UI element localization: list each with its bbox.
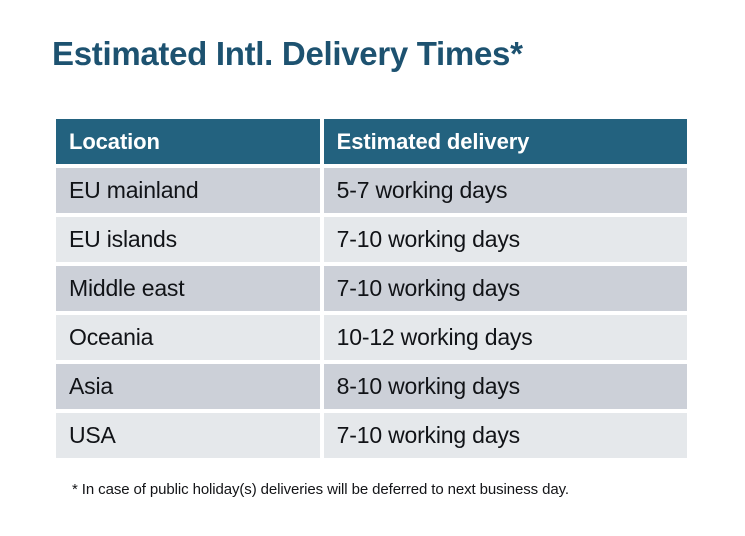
table-row: EU mainland 5-7 working days bbox=[56, 168, 687, 213]
cell-delivery: 5-7 working days bbox=[324, 168, 687, 213]
delivery-times-page: Estimated Intl. Delivery Times* Location… bbox=[0, 0, 745, 536]
table-header: Location Estimated delivery bbox=[56, 119, 687, 164]
table-header-row: Location Estimated delivery bbox=[56, 119, 687, 164]
cell-delivery: 7-10 working days bbox=[324, 266, 687, 311]
delivery-times-table: Location Estimated delivery EU mainland … bbox=[52, 115, 691, 462]
table-row: Asia 8-10 working days bbox=[56, 364, 687, 409]
cell-location: Oceania bbox=[56, 315, 320, 360]
cell-location: USA bbox=[56, 413, 320, 458]
cell-location: Middle east bbox=[56, 266, 320, 311]
cell-delivery: 7-10 working days bbox=[324, 413, 687, 458]
column-header-location: Location bbox=[56, 119, 320, 164]
cell-location: EU mainland bbox=[56, 168, 320, 213]
table-row: USA 7-10 working days bbox=[56, 413, 687, 458]
table-row: EU islands 7-10 working days bbox=[56, 217, 687, 262]
column-header-delivery: Estimated delivery bbox=[324, 119, 687, 164]
cell-delivery: 8-10 working days bbox=[324, 364, 687, 409]
table-body: EU mainland 5-7 working days EU islands … bbox=[56, 168, 687, 458]
table-row: Oceania 10-12 working days bbox=[56, 315, 687, 360]
cell-location: Asia bbox=[56, 364, 320, 409]
cell-location: EU islands bbox=[56, 217, 320, 262]
cell-delivery: 10-12 working days bbox=[324, 315, 687, 360]
cell-delivery: 7-10 working days bbox=[324, 217, 687, 262]
page-title: Estimated Intl. Delivery Times* bbox=[52, 36, 523, 72]
footnote: * In case of public holiday(s) deliverie… bbox=[72, 481, 569, 498]
table-row: Middle east 7-10 working days bbox=[56, 266, 687, 311]
